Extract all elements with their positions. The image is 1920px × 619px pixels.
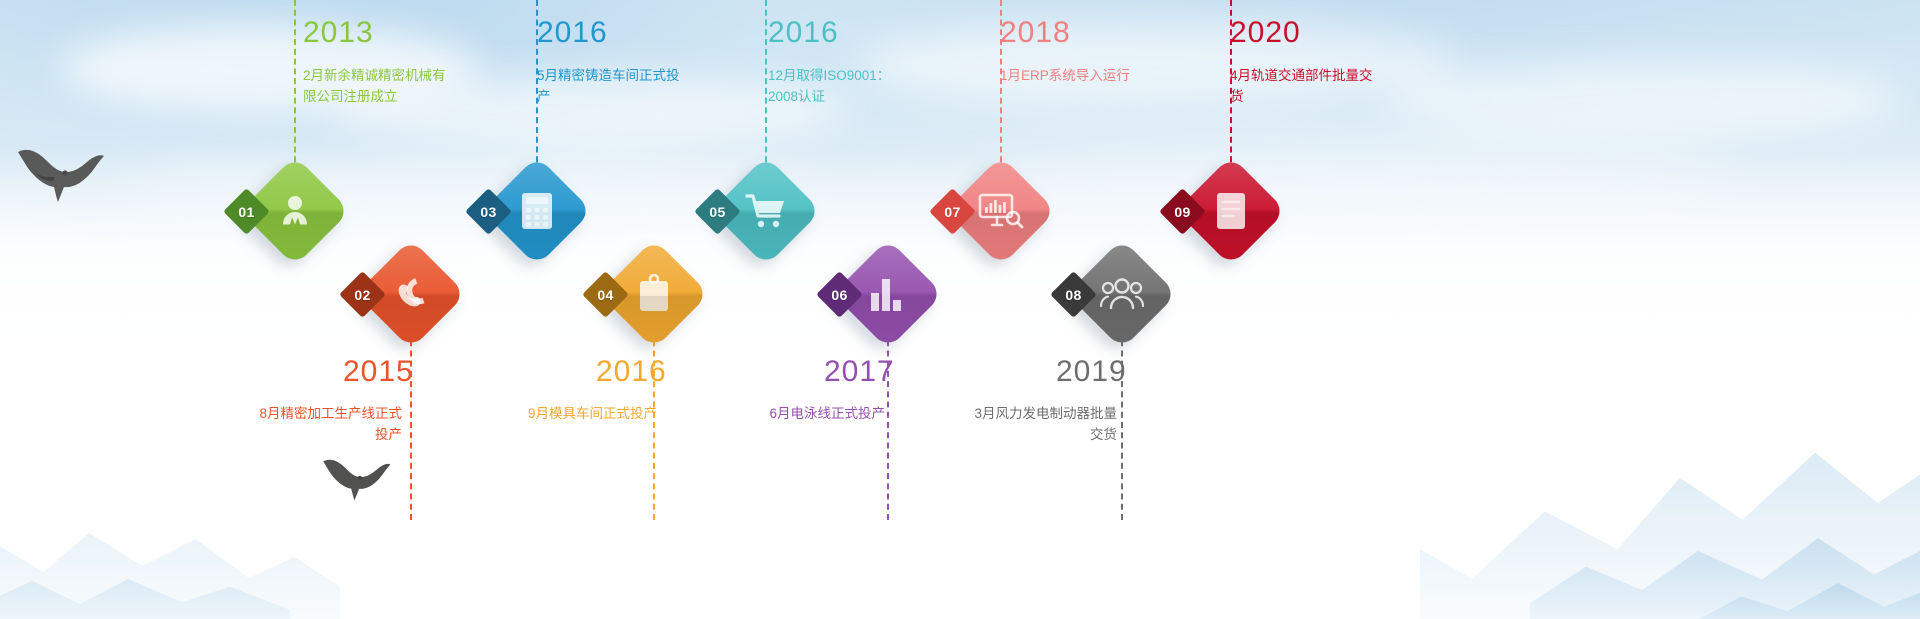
timeline-description: 2月新余精诚精密机械有限公司注册成立	[303, 65, 455, 107]
timeline-node-02[interactable]: 02	[372, 255, 450, 333]
timeline-node-06[interactable]: 06	[849, 255, 927, 333]
node-number-badge: 01	[223, 188, 270, 235]
eagle-icon	[14, 140, 106, 204]
timeline-node-08[interactable]: 08	[1083, 255, 1161, 333]
node-number-badge: 05	[694, 188, 741, 235]
node-number-label: 02	[346, 278, 379, 311]
timeline-node-03[interactable]: 03	[498, 172, 576, 250]
timeline-year-label: 2017	[824, 355, 895, 389]
node-number-badge: 03	[465, 188, 512, 235]
eagle-icon	[320, 452, 392, 502]
timeline-description: 5月精密铸造车间正式投产	[537, 65, 689, 107]
node-number-label: 05	[701, 195, 734, 228]
timeline-node-07[interactable]: 07	[962, 172, 1040, 250]
node-number-badge: 09	[1159, 188, 1206, 235]
timeline-node-09[interactable]: 09	[1192, 172, 1270, 250]
timeline-year-label: 2019	[1056, 355, 1127, 389]
node-number-badge: 04	[582, 271, 629, 318]
node-number-label: 07	[936, 195, 969, 228]
timeline-year-label: 2016	[768, 16, 839, 50]
timeline-year-label: 2016	[537, 16, 608, 50]
node-number-label: 04	[589, 278, 622, 311]
node-number-label: 01	[230, 195, 263, 228]
cloud	[1380, 60, 1900, 140]
timeline-connector-line	[294, 0, 296, 172]
timeline-description: 9月模具车间正式投产	[505, 403, 657, 424]
node-number-badge: 02	[339, 271, 386, 318]
timeline-node-05[interactable]: 05	[727, 172, 805, 250]
node-number-label: 06	[823, 278, 856, 311]
node-number-badge: 07	[929, 188, 976, 235]
node-number-badge: 08	[1050, 271, 1097, 318]
timeline-year-label: 2016	[596, 355, 667, 389]
timeline-node-01[interactable]: 01	[256, 172, 334, 250]
node-number-label: 08	[1057, 278, 1090, 311]
timeline-description: 6月电泳线正式投产	[733, 403, 885, 424]
timeline-description: 4月轨道交通部件批量交货	[1230, 65, 1382, 107]
timeline-canvas: 0120132月新余精诚精密机械有限公司注册成立0220158月精密加工生产线正…	[0, 0, 1920, 619]
node-number-label: 09	[1166, 195, 1199, 228]
timeline-description: 8月精密加工生产线正式投产	[250, 403, 402, 445]
timeline-description: 1月ERP系统导入运行	[1000, 65, 1152, 86]
timeline-connector-line	[765, 0, 767, 172]
timeline-node-04[interactable]: 04	[615, 255, 693, 333]
timeline-year-label: 2020	[1230, 16, 1301, 50]
timeline-year-label: 2013	[303, 16, 374, 50]
timeline-year-label: 2015	[343, 355, 414, 389]
node-number-label: 03	[472, 195, 505, 228]
timeline-description: 3月风力发电制动器批量交货	[965, 403, 1117, 445]
node-number-badge: 06	[816, 271, 863, 318]
timeline-year-label: 2018	[1000, 16, 1071, 50]
timeline-description: 12月取得ISO9001：2008认证	[768, 65, 920, 107]
